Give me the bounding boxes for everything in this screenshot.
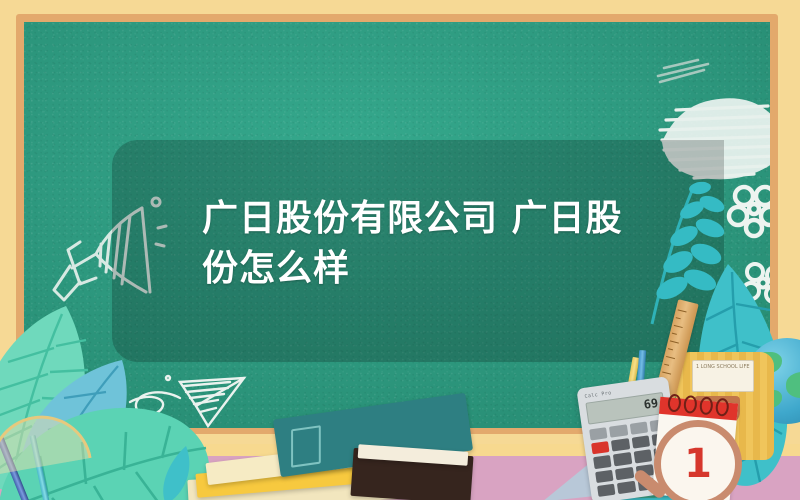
calculator-key — [631, 436, 650, 449]
book-cover-emblem — [291, 425, 321, 468]
calculator-key — [609, 424, 628, 437]
scribble-mark-icon — [654, 58, 714, 86]
magnifier-icon: 1 — [654, 420, 742, 500]
banner-canvas: 广日股份有限公司 广日股份怎么样 — [0, 0, 800, 500]
calculator-brand: Calc Pro — [584, 390, 612, 400]
calculator-key — [615, 467, 634, 480]
page-title: 广日股份有限公司 广日股份怎么样 — [202, 194, 632, 294]
calculator-key — [595, 469, 614, 482]
calculator-key — [613, 452, 632, 465]
magnifier-number: 1 — [661, 427, 735, 500]
calculator-key — [629, 422, 648, 435]
backpack-tag: 1 LONG SCHOOL LIFE — [692, 360, 754, 392]
calculator-key — [589, 427, 608, 440]
calculator-key — [633, 450, 652, 463]
calculator-key-ac — [591, 441, 610, 454]
calculator-key — [617, 481, 636, 494]
calculator-display: 69 — [643, 396, 659, 412]
calculator-key — [593, 455, 612, 468]
calculator-key — [611, 438, 630, 451]
calculator-key — [597, 483, 616, 496]
